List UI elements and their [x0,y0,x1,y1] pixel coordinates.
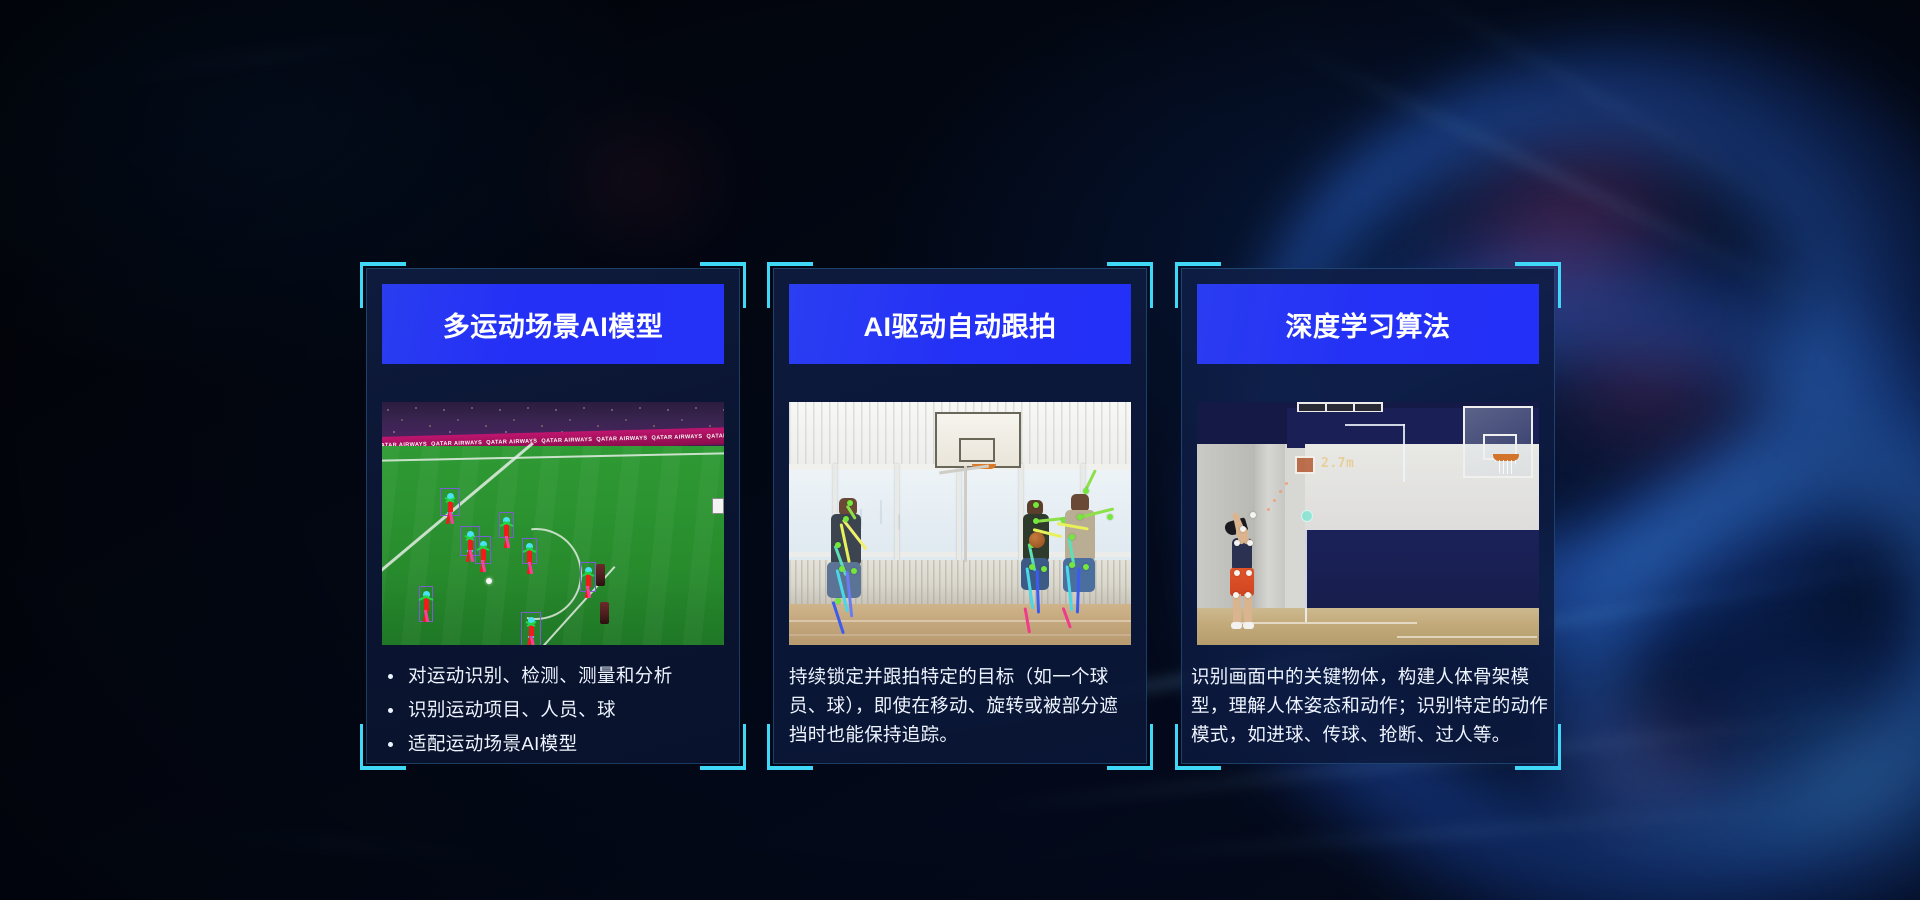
list-item: 对运动识别、检测、测量和分析 [382,662,728,690]
measurement-label: 2.7m [1321,456,1354,471]
card-title: 多运动场景AI模型 [443,305,664,344]
feature-bullet-list: 对运动识别、检测、测量和分析 识别运动项目、人员、球 适配运动场景AI模型 [382,662,728,758]
court-scene: 2.7m [1197,402,1539,645]
banner-text-6: QATAR AIRWAYS [647,433,702,441]
card-media-soccer-detection: QATAR AIRWAYS QATAR AIRWAYS QATAR AIRWAY… [382,402,724,645]
feature-card-ai-auto-tracking[interactable]: AI驱动自动跟拍 [767,262,1153,770]
feature-card-deep-learning-algorithm[interactable]: 深度学习算法 [1175,262,1561,770]
detection-box-4 [475,536,491,564]
card-media-court-shot-measure: 2.7m [1197,402,1539,645]
detection-box-8 [521,612,541,645]
tracking-guide-vertical [1403,424,1405,482]
feature-description: 识别画面中的关键物体，构建人体骨架模型，理解人体姿态和动作；识别特定的动作模式，… [1191,662,1551,749]
list-item: 识别运动项目、人员、球 [382,696,728,724]
card-media-gym-basketball-pose [789,402,1131,645]
card-body: 持续锁定并跟拍特定的目标（如一个球员、球），即使在移动、旋转或被部分遮挡时也能保… [789,662,1135,749]
card-title: 深度学习算法 [1286,305,1451,344]
tracking-guide-left [1305,530,1307,622]
hoop-post [964,466,967,562]
feature-description: 持续锁定并跟拍特定的目标（如一个球员、球），即使在移动、旋转或被部分遮挡时也能保… [789,662,1135,749]
player-pose-left [823,492,885,642]
list-item: 适配运动场景AI模型 [382,730,728,758]
banner-text-5: QATAR AIRWAYS [592,435,647,443]
gym-scene [789,402,1131,645]
detection-box-5 [522,538,537,564]
detection-box-2 [499,512,514,538]
card-header: AI驱动自动跟拍 [789,284,1131,364]
basketball-backboard [935,412,1021,468]
player-shooter [1219,514,1267,634]
banner-text-4: QATAR AIRWAYS [537,437,592,445]
banner-text-7: QATAR AIRWAYS [702,432,724,440]
opponent-player-1 [596,564,605,586]
basketball-rim [1493,454,1519,461]
card-header: 深度学习算法 [1197,284,1539,364]
pitchside-board [712,498,724,514]
detection-box-6 [580,562,596,592]
tracking-guide-horizontal [1345,424,1405,426]
feature-card-group: 多运动场景AI模型 QATAR AIRWAYS QATAR AIRWAYS QA… [0,0,1920,900]
ball-tracking-box [1295,456,1315,474]
feature-card-multi-sport-ai-model[interactable]: 多运动场景AI模型 QATAR AIRWAYS QATAR AIRWAYS QA… [360,262,746,770]
soccer-scene: QATAR AIRWAYS QATAR AIRWAYS QATAR AIRWAY… [382,402,724,645]
scoreboard [1297,402,1383,412]
detection-box-1 [440,488,460,516]
soccer-ball [486,578,492,584]
opponent-player-2 [600,602,609,624]
player-pose-right [1049,484,1113,642]
soccer-pitch [382,446,724,645]
card-body: 对运动识别、检测、测量和分析 识别运动项目、人员、球 适配运动场景AI模型 [382,662,728,764]
detection-box-7 [419,586,433,622]
card-body: 识别画面中的关键物体，构建人体骨架模型，理解人体姿态和动作；识别特定的动作模式，… [1191,662,1551,749]
basketball [1029,532,1045,548]
key-point-marker [1301,510,1313,522]
card-title: AI驱动自动跟拍 [864,305,1057,344]
wall-navy-pad [1305,530,1539,608]
card-header: 多运动场景AI模型 [382,284,724,364]
